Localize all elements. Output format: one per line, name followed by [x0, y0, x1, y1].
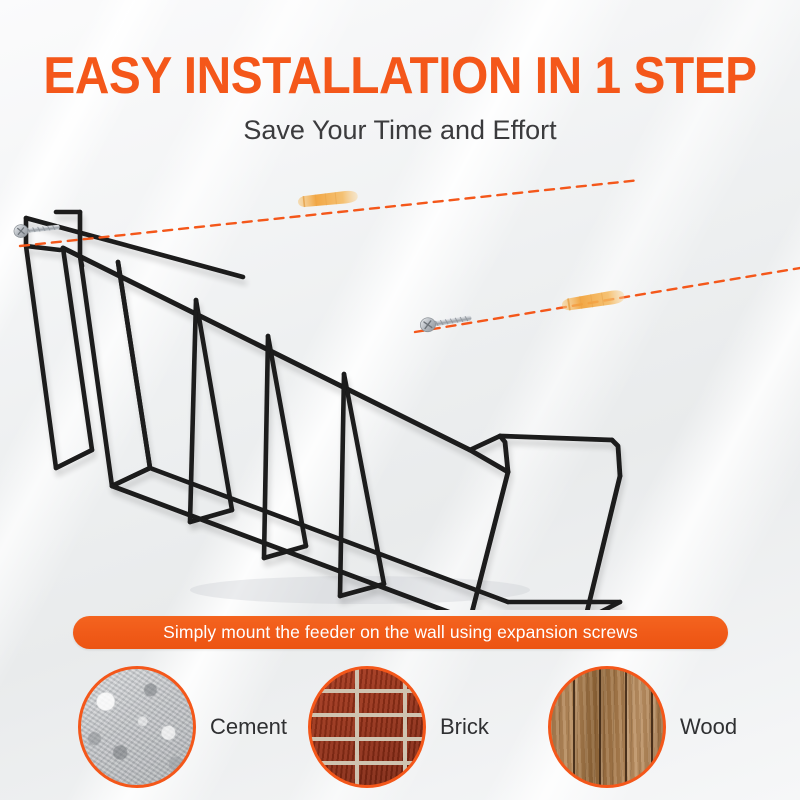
brick-texture-circle	[308, 666, 426, 788]
anchor-body-upper	[297, 190, 358, 209]
rack-hook-loop-right	[612, 440, 620, 476]
wire-rack	[26, 212, 620, 610]
rack-back-mid2-vertical	[340, 374, 344, 596]
rack-back-right-vertical	[585, 476, 620, 610]
rack-bottom-loop-1	[56, 450, 92, 468]
mounting-screw-lower	[419, 311, 472, 333]
instruction-banner: Simply mount the feeder on the wall usin…	[73, 616, 728, 649]
material-label-cement: Cement	[210, 714, 287, 740]
wood-texture-circle	[548, 666, 666, 788]
rack-back-mid-vertical	[264, 336, 268, 558]
page-title: EASY INSTALLATION IN 1 STEP	[32, 48, 768, 104]
wall-anchor-lower	[561, 289, 625, 312]
page-subtitle: Save Your Time and Effort	[0, 115, 800, 146]
rack-bottom-loop-2	[112, 468, 150, 486]
rack-bar-1	[118, 262, 150, 468]
rack-bar-5	[470, 450, 508, 472]
rack-hook-rail-right	[500, 436, 612, 440]
material-list: Cement Brick Wood	[0, 662, 800, 792]
rack-back-left-vertical	[190, 300, 196, 522]
material-item-cement: Cement	[78, 662, 287, 792]
material-item-brick: Brick	[308, 662, 489, 792]
material-label-brick: Brick	[440, 714, 489, 740]
infographic-page: EASY INSTALLATION IN 1 STEP Save Your Ti…	[0, 0, 800, 800]
cement-texture-circle	[78, 666, 196, 788]
anchor-body-lower	[561, 289, 625, 312]
trajectory-line-upper	[20, 180, 640, 246]
material-item-wood: Wood	[548, 662, 737, 792]
wall-anchor-upper	[297, 190, 358, 209]
hero-illustration	[0, 150, 800, 610]
material-label-wood: Wood	[680, 714, 737, 740]
